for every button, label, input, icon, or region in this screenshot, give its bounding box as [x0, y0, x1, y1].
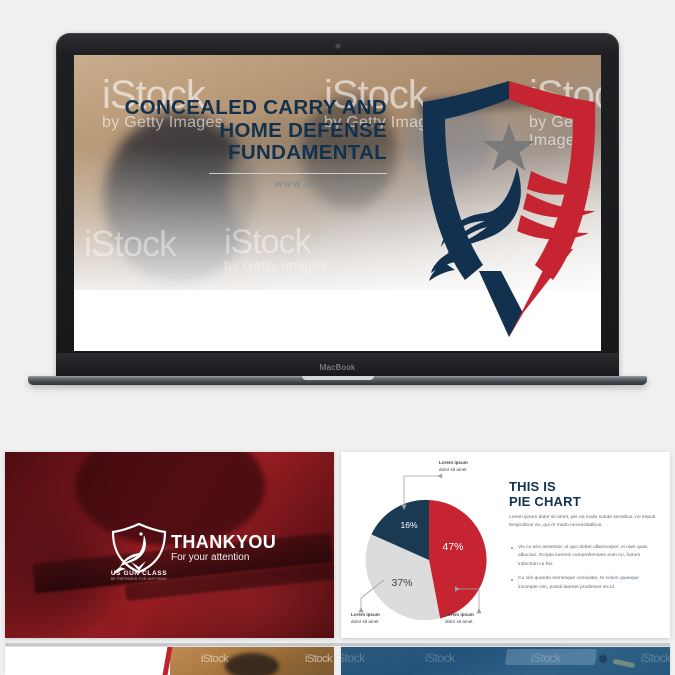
istock-watermark-subtext: by Getty Images — [224, 258, 327, 273]
pie-label-37: 37% — [391, 577, 412, 589]
macbook-mockup: iStock by Getty Images iStock by Getty I… — [56, 33, 619, 381]
macbook-label: MacBook — [320, 363, 356, 372]
istock-watermark: iStock by Getty Images — [224, 223, 327, 273]
us-gun-class-shield-logo — [108, 522, 170, 574]
camera-dot-icon — [336, 44, 340, 48]
partial-photo-subject — [225, 653, 279, 675]
hero-macbook-section: iStock by Getty Images iStock by Getty I… — [0, 0, 675, 400]
cover-divider — [209, 173, 387, 174]
pie-slice-47 — [429, 500, 487, 618]
pie-chart: 47% 37% 16% — [347, 458, 507, 632]
pie-callout-bottom-left: Lorem ipsum dolor sit amet — [351, 612, 380, 625]
pie-label-16: 16% — [400, 520, 417, 530]
slide-title-cover: iStock by Getty Images iStock by Getty I… — [74, 55, 601, 351]
cover-title-line-1: CONCEALED CARRY AND — [107, 97, 387, 120]
piechart-paragraph: Lorem ipsum dolor sit amet, per ea malis… — [509, 514, 657, 531]
pie-callout-title: Lorem ipsum — [351, 612, 380, 619]
istock-watermark: iStock — [641, 651, 670, 665]
macbook-screen: iStock by Getty Images iStock by Getty I… — [74, 55, 601, 351]
cover-title: CONCEALED CARRY AND HOME DEFENSE FUNDAME… — [107, 97, 387, 165]
pie-callout-subtitle: dolor sit amet — [439, 467, 467, 472]
pie-callout-subtitle: dolor sit amet — [351, 619, 379, 624]
istock-watermark-text: iStock — [224, 223, 311, 261]
pie-callout-bottom-right: Lorem ipsum dolor sit amet — [445, 612, 474, 625]
thankyou-subheading: For your attention — [171, 552, 249, 563]
thankyou-heading: THANKYOU — [171, 532, 276, 553]
istock-watermark: iStock — [305, 653, 332, 665]
piechart-title-line-1: THIS IS — [509, 480, 581, 495]
piechart-title-line-2: PIE CHART — [509, 495, 581, 510]
pie-callout-title: Lorem ipsum — [439, 460, 468, 467]
piechart-title: THIS IS PIE CHART — [509, 480, 581, 509]
macbook-lid: iStock by Getty Images iStock by Getty I… — [56, 33, 619, 381]
thankyou-logo-title: US GUN CLASS — [98, 570, 180, 577]
us-gun-class-eagle-shield-logo — [405, 75, 601, 340]
cover-title-line-2: HOME DEFENSE — [107, 120, 387, 143]
istock-watermark: iStock — [425, 651, 455, 665]
slide-partial-left-card[interactable]: iStock iStock — [5, 647, 334, 675]
cover-title-line-3: FUNDAMENTAL — [107, 142, 387, 165]
piechart-bullet-item: Vix cu wisi assentior, ut quo debet ulla… — [509, 544, 659, 569]
pie-callout-title: Lorem ipsum — [445, 612, 474, 619]
screenshot-stage: iStock by Getty Images iStock by Getty I… — [0, 0, 675, 675]
istock-watermark: iStock — [84, 223, 176, 265]
pie-callout-subtitle: dolor sit amet — [445, 619, 473, 624]
macbook-notch — [302, 376, 374, 380]
partial-photo-object — [613, 659, 636, 668]
pie-label-47: 47% — [442, 541, 463, 553]
piechart-slide: 47% 37% 16% — [341, 452, 670, 638]
slide-thankyou-card[interactable]: US GUN CLASS BE PREPARED FOR ANYTHING TH… — [5, 452, 334, 638]
piechart-bullet-item: Cu vim quando omnesque consulatu, te sol… — [509, 575, 659, 592]
istock-watermark: iStock — [531, 651, 561, 665]
thankyou-logo-tagline: BE PREPARED FOR ANYTHING — [98, 577, 180, 581]
cover-website-url: WWW.GUNCLASS.COM — [107, 179, 387, 189]
istock-watermark-text: iStock — [84, 223, 176, 264]
piechart-bullet-list: Vix cu wisi assentior, ut quo debet ulla… — [509, 544, 659, 598]
istock-watermark: iStock — [201, 653, 228, 665]
slide-piechart-card[interactable]: 47% 37% 16% — [341, 452, 670, 638]
row-divider — [5, 643, 670, 646]
istock-watermark: iStock — [341, 651, 365, 665]
slide-partial-right-card[interactable]: iStock iStock iStock iStock — [341, 647, 670, 675]
pie-callout-top: Lorem ipsum dolor sit amet — [439, 460, 468, 473]
partial-photo-object — [599, 655, 607, 663]
